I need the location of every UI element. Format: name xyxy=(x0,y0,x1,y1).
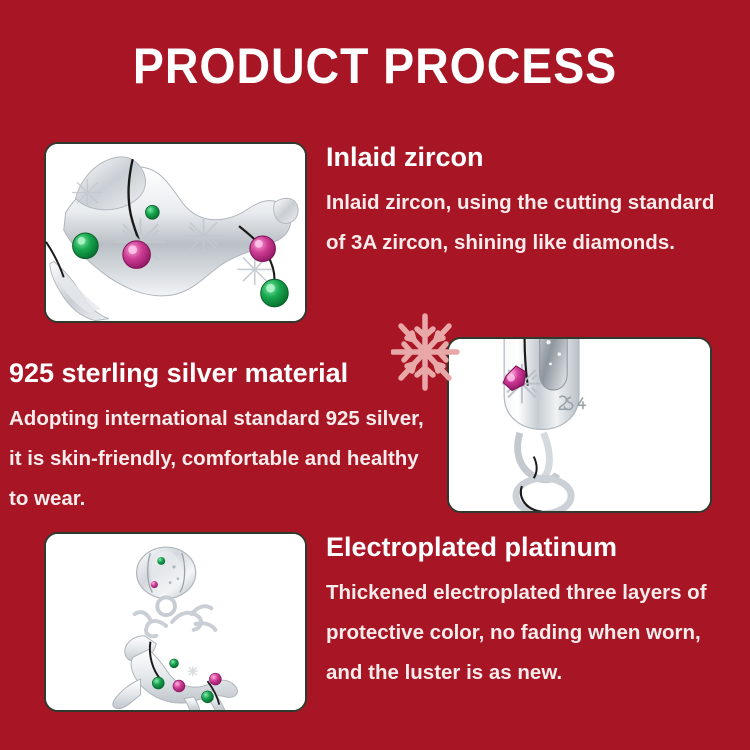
section-electroplated-platinum: Electroplated platinum Thickened electro… xyxy=(326,531,746,693)
section-heading-inlaid-zircon: Inlaid zircon xyxy=(326,141,746,173)
product-process-poster: PRODUCT PROCESS xyxy=(0,0,750,750)
section-body-electroplated-platinum: Thickened electroplated three layers of … xyxy=(326,573,736,693)
product-photo-bail-closeup xyxy=(449,339,710,511)
section-body-inlaid-zircon: Inlaid zircon, using the cutting standar… xyxy=(326,183,736,263)
product-image-card-electroplated-platinum[interactable] xyxy=(44,532,307,712)
page-title: PRODUCT PROCESS xyxy=(26,38,724,94)
section-heading-electroplated-platinum: Electroplated platinum xyxy=(326,531,746,563)
product-photo-full-charm xyxy=(46,534,305,710)
product-photo-reindeer-closeup xyxy=(46,144,305,321)
section-inlaid-zircon: Inlaid zircon Inlaid zircon, using the c… xyxy=(326,141,746,263)
product-image-card-inlaid-zircon[interactable] xyxy=(44,142,307,323)
product-image-card-sterling-silver[interactable] xyxy=(447,337,712,513)
section-sterling-silver: 925 sterling silver material Adopting in… xyxy=(9,357,439,519)
section-body-sterling-silver: Adopting international standard 925 silv… xyxy=(9,399,437,519)
section-heading-sterling-silver: 925 sterling silver material xyxy=(9,357,439,389)
